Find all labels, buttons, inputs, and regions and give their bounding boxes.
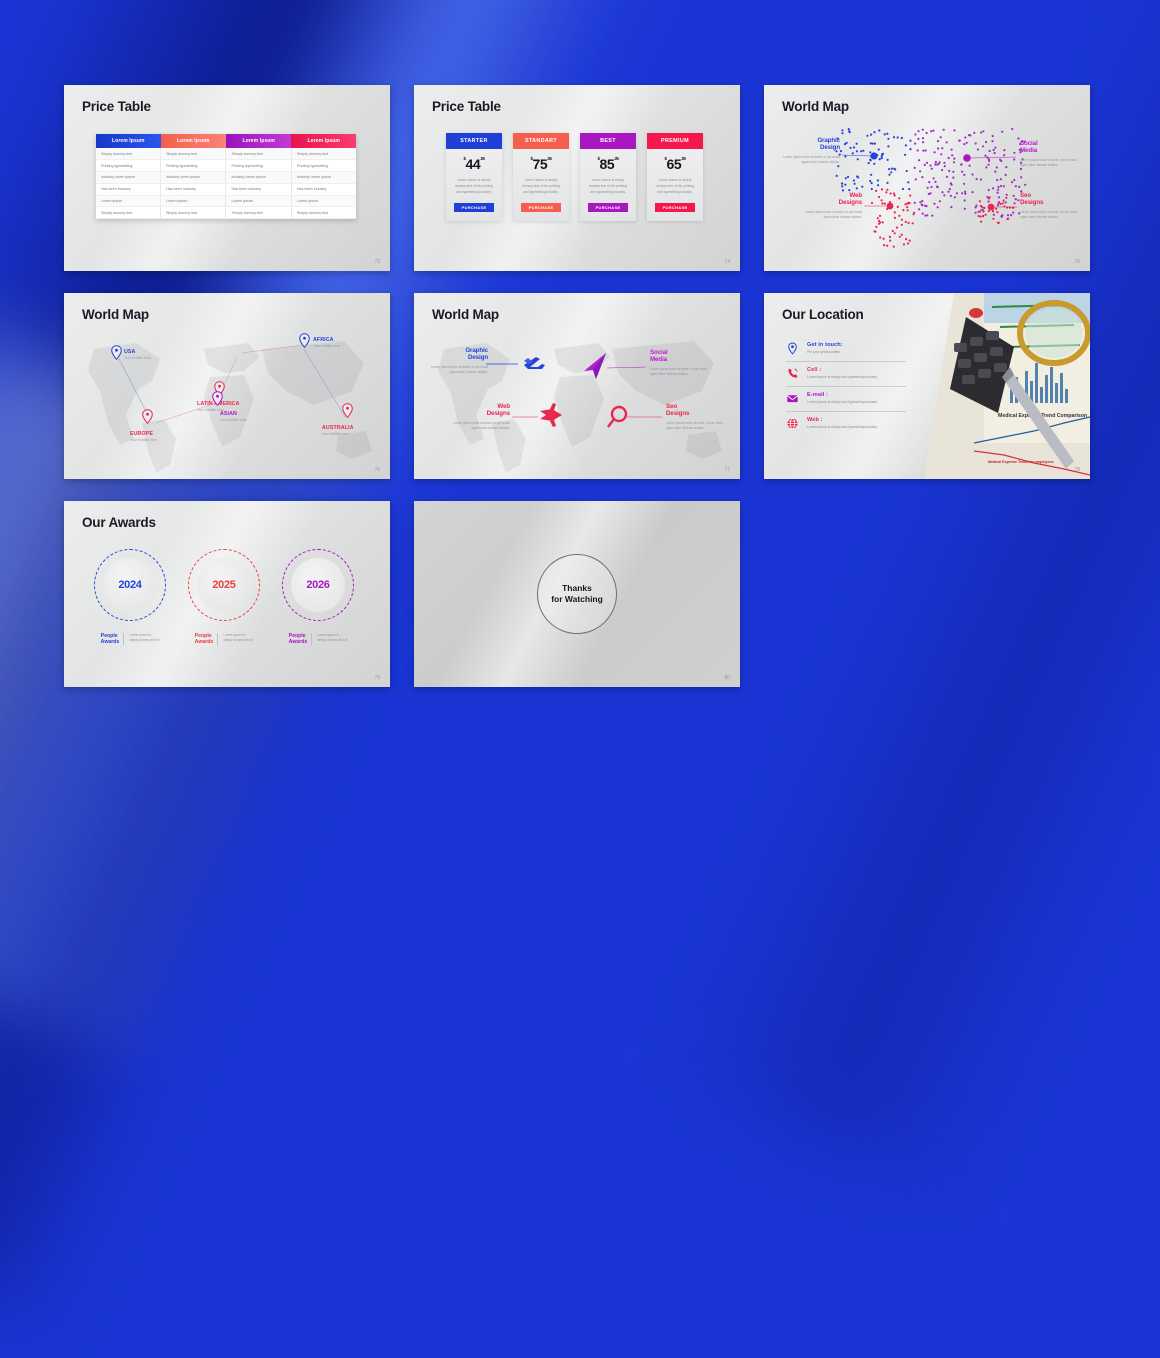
map-dot (927, 187, 929, 189)
contact-item[interactable]: Get in touch:Put your great subtitle (786, 337, 906, 361)
airplane-icon (524, 357, 545, 369)
map-dot (985, 166, 987, 168)
price-card-tier: PREMIUM (647, 133, 703, 149)
pin-label-name: AUSTRALIA (322, 425, 354, 431)
map-dot (862, 150, 864, 152)
award-desc: Lorem ipsum is simply dummy text of (223, 633, 253, 643)
pin-connectors (64, 293, 390, 479)
map-dot (1015, 198, 1017, 200)
map-dot (872, 143, 874, 145)
map-dot (960, 164, 962, 166)
map-label-title: WebDesigns (802, 192, 862, 207)
pin-label-subtitle: Your Subtitle here (322, 432, 354, 436)
table-row: Printing typesettingPrinting typesetting… (96, 160, 356, 172)
map-dot (887, 159, 889, 161)
map-pin-icon[interactable] (342, 403, 353, 418)
map-dot (951, 149, 953, 151)
table-cell: Lorem ipsum (226, 195, 291, 207)
map-dot (844, 184, 846, 186)
price-card-desc: Lorem Ipsum is simply dummy text of the … (453, 178, 495, 195)
map-label-social-media: SocialMedia Lorem ipsum dolor sit amet, … (1020, 140, 1082, 168)
slide-world-map-dotted[interactable]: World Map GraphicDesign Lorem ipsum dolo… (764, 85, 1090, 271)
map-dot (983, 207, 985, 209)
map-dot (977, 148, 979, 150)
map-dot (961, 171, 963, 173)
map-dot (1005, 166, 1007, 168)
award-footer: PeopleAwardsLorem ipsum is simply dummy … (188, 633, 260, 645)
slide-world-map-icons[interactable]: World Map (414, 293, 740, 479)
map-label-graphic-design: GraphicDesign Lorem ipsum dolor sit amet… (430, 347, 488, 375)
award-desc: Lorem ipsum is simply dummy text of (317, 633, 347, 643)
map-dot (904, 203, 906, 205)
map-dot (909, 202, 911, 204)
page-number: 73 (374, 259, 380, 265)
map-label-desc: Lorem ipsum dolor sit amet, no pri mods … (802, 210, 862, 220)
map-dot (909, 240, 911, 242)
map-dot (873, 131, 875, 133)
price-card-desc: Lorem Ipsum is simply dummy text of the … (654, 178, 696, 195)
contact-label: Cell : (807, 367, 877, 373)
page-number: 78 (1074, 467, 1080, 473)
map-dot (979, 200, 981, 202)
purchase-button[interactable]: PURCHASE (655, 203, 695, 212)
map-dot (907, 242, 909, 244)
slide-price-table-cards[interactable]: Price Table STARTER$4425Lorem Ipsum is s… (414, 85, 740, 271)
price-card-desc: Lorem Ipsum is simply dummy text of the … (520, 178, 562, 195)
thanks-text: Thanksfor Watching (551, 583, 603, 605)
pin-label-name: AFRICA (313, 337, 340, 343)
map-dot (980, 221, 982, 223)
map-dot (877, 184, 879, 186)
table-cell: Printing typesetting (291, 160, 356, 172)
map-dot (996, 166, 998, 168)
map-dot (1013, 195, 1015, 197)
map-dot (999, 203, 1001, 205)
contact-item[interactable]: Web :Lorem Ipsum is simply and typewriti… (786, 411, 906, 436)
map-dot (841, 129, 843, 131)
table-col-header: Lorem Ipsum (291, 134, 356, 148)
map-dot (879, 236, 881, 238)
map-dot (985, 141, 987, 143)
map-dot (886, 133, 888, 135)
map-dot (883, 244, 885, 246)
map-label-web-designs: WebDesigns Lorem ipsum dolor sit amet, n… (452, 403, 510, 431)
thanks-badge: Thanksfor Watching (537, 554, 617, 634)
map-dot (1005, 174, 1007, 176)
map-dot (879, 215, 881, 217)
map-dot (964, 191, 966, 193)
map-dot (924, 205, 926, 207)
price-card-tier: BEST (580, 133, 636, 149)
map-dot (980, 131, 982, 133)
map-dot (1014, 202, 1016, 204)
map-dot (870, 142, 872, 144)
contact-list: Get in touch:Put your great subtitleCell… (786, 337, 906, 436)
table-cell: Industry lorem ipsum (161, 172, 226, 184)
pin-label: AUSTRALIAYour Subtitle here (322, 425, 354, 436)
map-dot (915, 178, 917, 180)
map-dot (946, 141, 948, 143)
jet-icon (540, 403, 562, 427)
map-dot (975, 142, 977, 144)
table-cell: Industry lorem ipsum (226, 172, 291, 184)
pin-label-subtitle: Your Subtitle here (220, 418, 247, 422)
contact-item[interactable]: Cell :Lorem Ipsum is simply and typewrit… (786, 361, 906, 386)
table-cell: Lorem ipsum (161, 195, 226, 207)
map-dot (964, 199, 966, 201)
map-dot (941, 191, 943, 193)
page-number: 80 (724, 675, 730, 681)
map-dot (1001, 216, 1003, 218)
map-dot (931, 168, 933, 170)
map-dot (1000, 178, 1002, 180)
map-dot (899, 236, 901, 238)
contact-label: Web : (807, 417, 877, 423)
contact-desc: Put your great subtitle (807, 350, 843, 355)
map-dot (963, 174, 965, 176)
map-dot (918, 159, 920, 161)
map-dot (937, 206, 939, 208)
map-dot (1015, 185, 1017, 187)
map-dot (847, 176, 849, 178)
map-dot (861, 186, 863, 188)
map-dot (1020, 168, 1022, 170)
map-dot (954, 196, 956, 198)
map-dot (1024, 184, 1026, 186)
map-dot (924, 164, 926, 166)
table-cell: Lorem ipsum (291, 195, 356, 207)
map-dot (944, 165, 946, 167)
slide-world-map-pins[interactable]: World Map USAYour Subtitle hereLATIN AME… (64, 293, 390, 479)
pin-label: USAYour Subtitle here (124, 349, 151, 360)
svg-text:Medical Expense Tends for empl: Medical Expense Tends for employees (988, 460, 1054, 464)
map-dot (939, 161, 941, 163)
award-ring: 2024 (94, 549, 166, 621)
map-dot (906, 206, 908, 208)
map-dot (1010, 214, 1012, 216)
map-dot (951, 154, 953, 156)
map-dot (922, 150, 924, 152)
map-dot (1002, 202, 1004, 204)
map-dot (841, 185, 843, 187)
map-dot (922, 141, 924, 143)
price-card[interactable]: BEST$8525Lorem Ipsum is simply dummy tex… (580, 133, 636, 221)
award-name: PeopleAwards (101, 633, 125, 645)
pin-label-subtitle: Your Subtitle here (124, 356, 151, 360)
award-ring: 2026 (282, 549, 354, 621)
slide-price-table-grid[interactable]: Price Table Lorem Ipsum Lorem Ipsum Lore… (64, 85, 390, 271)
table-header-row: Lorem Ipsum Lorem Ipsum Lorem Ipsum Lore… (96, 134, 356, 148)
map-dot (913, 212, 915, 214)
award-footer: PeopleAwardsLorem ipsum is simply dummy … (94, 633, 166, 645)
dotted-map-svg (764, 85, 1090, 271)
map-dot (933, 203, 935, 205)
price-card[interactable]: PREMIUM$6525Lorem Ipsum is simply dummy … (647, 133, 703, 221)
map-dot (898, 197, 900, 199)
map-dot (886, 189, 888, 191)
map-dot (924, 215, 926, 217)
map-dot (882, 153, 884, 155)
map-dot (852, 152, 854, 154)
table-cell: Has been industry (226, 183, 291, 195)
pin-label-name: USA (124, 349, 151, 355)
map-label-desc: Lorem ipsum dolor sit amet, no pri mods … (1020, 210, 1082, 220)
map-dot (921, 176, 923, 178)
office-photo: Medical Expense Trend Comparison Medical… (914, 293, 1090, 479)
map-dot (941, 169, 943, 171)
map-dot (984, 155, 986, 157)
map-dot (1020, 176, 1022, 178)
map-dot (997, 204, 999, 206)
map-dot (845, 177, 847, 179)
map-dot (853, 179, 855, 181)
map-dot (881, 157, 883, 159)
map-dot (869, 180, 871, 182)
map-dot (893, 246, 895, 248)
map-pin-icon[interactable] (111, 345, 122, 360)
map-label-title: GraphicDesign (780, 137, 840, 152)
map-dot (1013, 158, 1015, 160)
award-item: 2026PeopleAwardsLorem ipsum is simply du… (282, 549, 354, 645)
award-ring: 2025 (188, 549, 260, 621)
map-dot (891, 168, 893, 170)
map-dot (950, 182, 952, 184)
map-dot (997, 192, 999, 194)
map-dot (870, 174, 872, 176)
map-dot (971, 173, 973, 175)
award-year: 2024 (118, 579, 141, 591)
award-list: 2024PeopleAwardsLorem ipsum is simply du… (94, 549, 354, 645)
map-dot (992, 218, 994, 220)
page-number: 79 (374, 675, 380, 681)
map-dot (892, 230, 894, 232)
slide-our-location[interactable]: Our Location (764, 293, 1090, 479)
map-dot (879, 158, 881, 160)
map-dot (950, 195, 952, 197)
map-dot (841, 183, 843, 185)
map-dot (896, 227, 898, 229)
map-dot (926, 132, 928, 134)
map-dot (902, 209, 904, 211)
map-dot (988, 197, 990, 199)
price-card-amount: $4425 (446, 156, 502, 172)
map-dot (978, 215, 980, 217)
table-row: Industry lorem ipsumIndustry lorem ipsum… (96, 172, 356, 184)
map-dot (897, 206, 899, 208)
award-desc: Lorem ipsum is simply dummy text of (129, 633, 159, 643)
map-dot (1006, 206, 1008, 208)
connector-line (842, 155, 871, 156)
map-dot (1012, 212, 1014, 214)
table-cell: Simply dummy text (226, 148, 291, 160)
map-dot (922, 129, 924, 131)
award-year: 2025 (212, 579, 235, 591)
map-dot (914, 202, 916, 204)
map-dot (836, 175, 838, 177)
map-dot (873, 230, 875, 232)
map-dot (994, 171, 996, 173)
map-dot (848, 189, 850, 191)
price-card-list: STARTER$4425Lorem Ipsum is simply dummy … (446, 133, 703, 221)
map-dot (993, 214, 995, 216)
pin-label: ASIANYour Subtitle here (220, 411, 247, 422)
map-label-desc: Lorem ipsum dolor sit amet, no pri mods … (452, 421, 510, 431)
map-dot (894, 194, 896, 196)
slide-thanks[interactable]: Thanksfor Watching 80 (414, 501, 740, 687)
map-dot (883, 238, 885, 240)
map-label-seo-designs: SeoDesigns Lorem ipsum dolor sit amet, n… (1020, 192, 1082, 220)
map-dot (1003, 149, 1005, 151)
price-card-amount: $8525 (580, 156, 636, 172)
slide-our-awards[interactable]: Our Awards 2024PeopleAwardsLorem ipsum i… (64, 501, 390, 687)
map-dot (964, 208, 966, 210)
phone-icon (786, 367, 799, 380)
map-dot (972, 191, 974, 193)
map-dot (976, 178, 978, 180)
map-dot (937, 140, 939, 142)
pin-label-subtitle: Your Subtitle here (313, 344, 340, 348)
map-dot (856, 187, 858, 189)
map-dot (948, 170, 950, 172)
price-card-desc: Lorem Ipsum is simply dummy text of the … (587, 178, 629, 195)
contact-item[interactable]: E-mail :Lorem Ipsum is simply and typewr… (786, 386, 906, 411)
map-dot (998, 196, 1000, 198)
pin-label-subtitle: Your Subtitle here (130, 438, 157, 442)
price-card-tier: STANDART (513, 133, 569, 149)
award-name: PeopleAwards (195, 633, 219, 645)
map-pin-icon[interactable] (142, 409, 153, 424)
map-dot (914, 167, 916, 169)
map-dot (893, 192, 895, 194)
map-pin-icon[interactable] (212, 391, 223, 406)
map-dot (909, 140, 911, 142)
map-dot (878, 129, 880, 131)
map-dot (917, 130, 919, 132)
award-footer: PeopleAwardsLorem ipsum is simply dummy … (282, 633, 354, 645)
page-title: Our Location (782, 307, 864, 322)
map-dot (881, 202, 883, 204)
price-card[interactable]: STANDART$7525Lorem Ipsum is simply dummy… (513, 133, 569, 221)
map-dot (907, 209, 909, 211)
table-cell: Simply dummy text (291, 207, 356, 219)
map-label-title: GraphicDesign (430, 347, 488, 362)
map-dot (964, 136, 966, 138)
map-dot (939, 200, 941, 202)
table-cell: Has been industry (96, 183, 161, 195)
price-card[interactable]: STARTER$4425Lorem Ipsum is simply dummy … (446, 133, 502, 221)
map-dot (884, 133, 886, 135)
map-dot (921, 200, 923, 202)
map-dot (856, 150, 858, 152)
map-dot (894, 211, 896, 213)
map-dot (875, 190, 877, 192)
map-dot (901, 224, 903, 226)
award-inner: 2026 (291, 558, 345, 612)
map-dot (869, 151, 871, 153)
map-dot (860, 150, 862, 152)
map-dot (985, 214, 987, 216)
map-dot (846, 142, 848, 144)
map-dot (922, 213, 924, 215)
contact-label: E-mail : (807, 392, 877, 398)
map-dot (894, 217, 896, 219)
award-year: 2026 (306, 579, 329, 591)
map-dot (844, 155, 846, 157)
map-dot (1005, 201, 1007, 203)
price-card-amount: $6525 (647, 156, 703, 172)
map-dot (928, 193, 930, 195)
map-dot (909, 195, 911, 197)
map-dot (964, 193, 966, 195)
map-dot (994, 147, 996, 149)
map-label-desc: Lorem ipsum dolor sit amet, no pri mods … (650, 367, 712, 377)
table-cell: Has been industry (291, 183, 356, 195)
table-body: Simply dummy textSimply dummy textSimply… (96, 148, 356, 219)
price-card-amount: $7525 (513, 156, 569, 172)
icon-map-graphics (414, 293, 740, 479)
page-number: 76 (374, 467, 380, 473)
table-cell: Printing typesetting (161, 160, 226, 172)
table-row: Has been industryHas been industryHas be… (96, 183, 356, 195)
map-dot (912, 222, 914, 224)
table-cell: Simply dummy text (161, 148, 226, 160)
map-dot (934, 181, 936, 183)
map-dot (993, 149, 995, 151)
map-dot (992, 210, 994, 212)
pin-label-name: ASIAN (220, 411, 247, 417)
map-dot (1011, 128, 1013, 130)
map-dot (889, 240, 891, 242)
table-cell: Simply dummy text (226, 207, 291, 219)
map-dot (934, 163, 936, 165)
map-dot (982, 130, 984, 132)
map-dot (956, 192, 958, 194)
map-dot (925, 149, 927, 151)
award-item: 2025PeopleAwardsLorem ipsum is simply du… (188, 549, 260, 645)
table-cell: Lorem ipsum (96, 195, 161, 207)
map-dot (904, 154, 906, 156)
map-dot (940, 136, 942, 138)
contact-desc: Lorem Ipsum is simply and typewriting in… (807, 400, 877, 405)
map-dot (869, 159, 871, 161)
purchase-button[interactable]: PURCHASE (454, 203, 494, 212)
purchase-button[interactable]: PURCHASE (588, 203, 628, 212)
map-dot (953, 129, 955, 131)
map-dot (849, 147, 851, 149)
map-label-graphic-design: GraphicDesign Lorem ipsum dolor sit amet… (780, 137, 840, 165)
award-item: 2024PeopleAwardsLorem ipsum is simply du… (94, 549, 166, 645)
map-dot (885, 191, 887, 193)
award-inner: 2024 (103, 558, 157, 612)
map-dot (932, 130, 934, 132)
map-dot (1013, 179, 1015, 181)
map-dot (886, 245, 888, 247)
map-dot (905, 144, 907, 146)
map-pin-icon[interactable] (299, 333, 310, 348)
map-dot (886, 182, 888, 184)
purchase-button[interactable]: PURCHASE (521, 203, 561, 212)
hub-dot-social (963, 154, 971, 162)
map-dot (997, 186, 999, 188)
map-label-title: SeoDesigns (666, 403, 728, 418)
map-dot (950, 206, 952, 208)
map-dot (943, 162, 945, 164)
map-pin-icon (786, 342, 799, 355)
map-dot (928, 181, 930, 183)
map-dot (884, 203, 886, 205)
map-dot (961, 192, 963, 194)
magnifier-icon (608, 407, 626, 427)
